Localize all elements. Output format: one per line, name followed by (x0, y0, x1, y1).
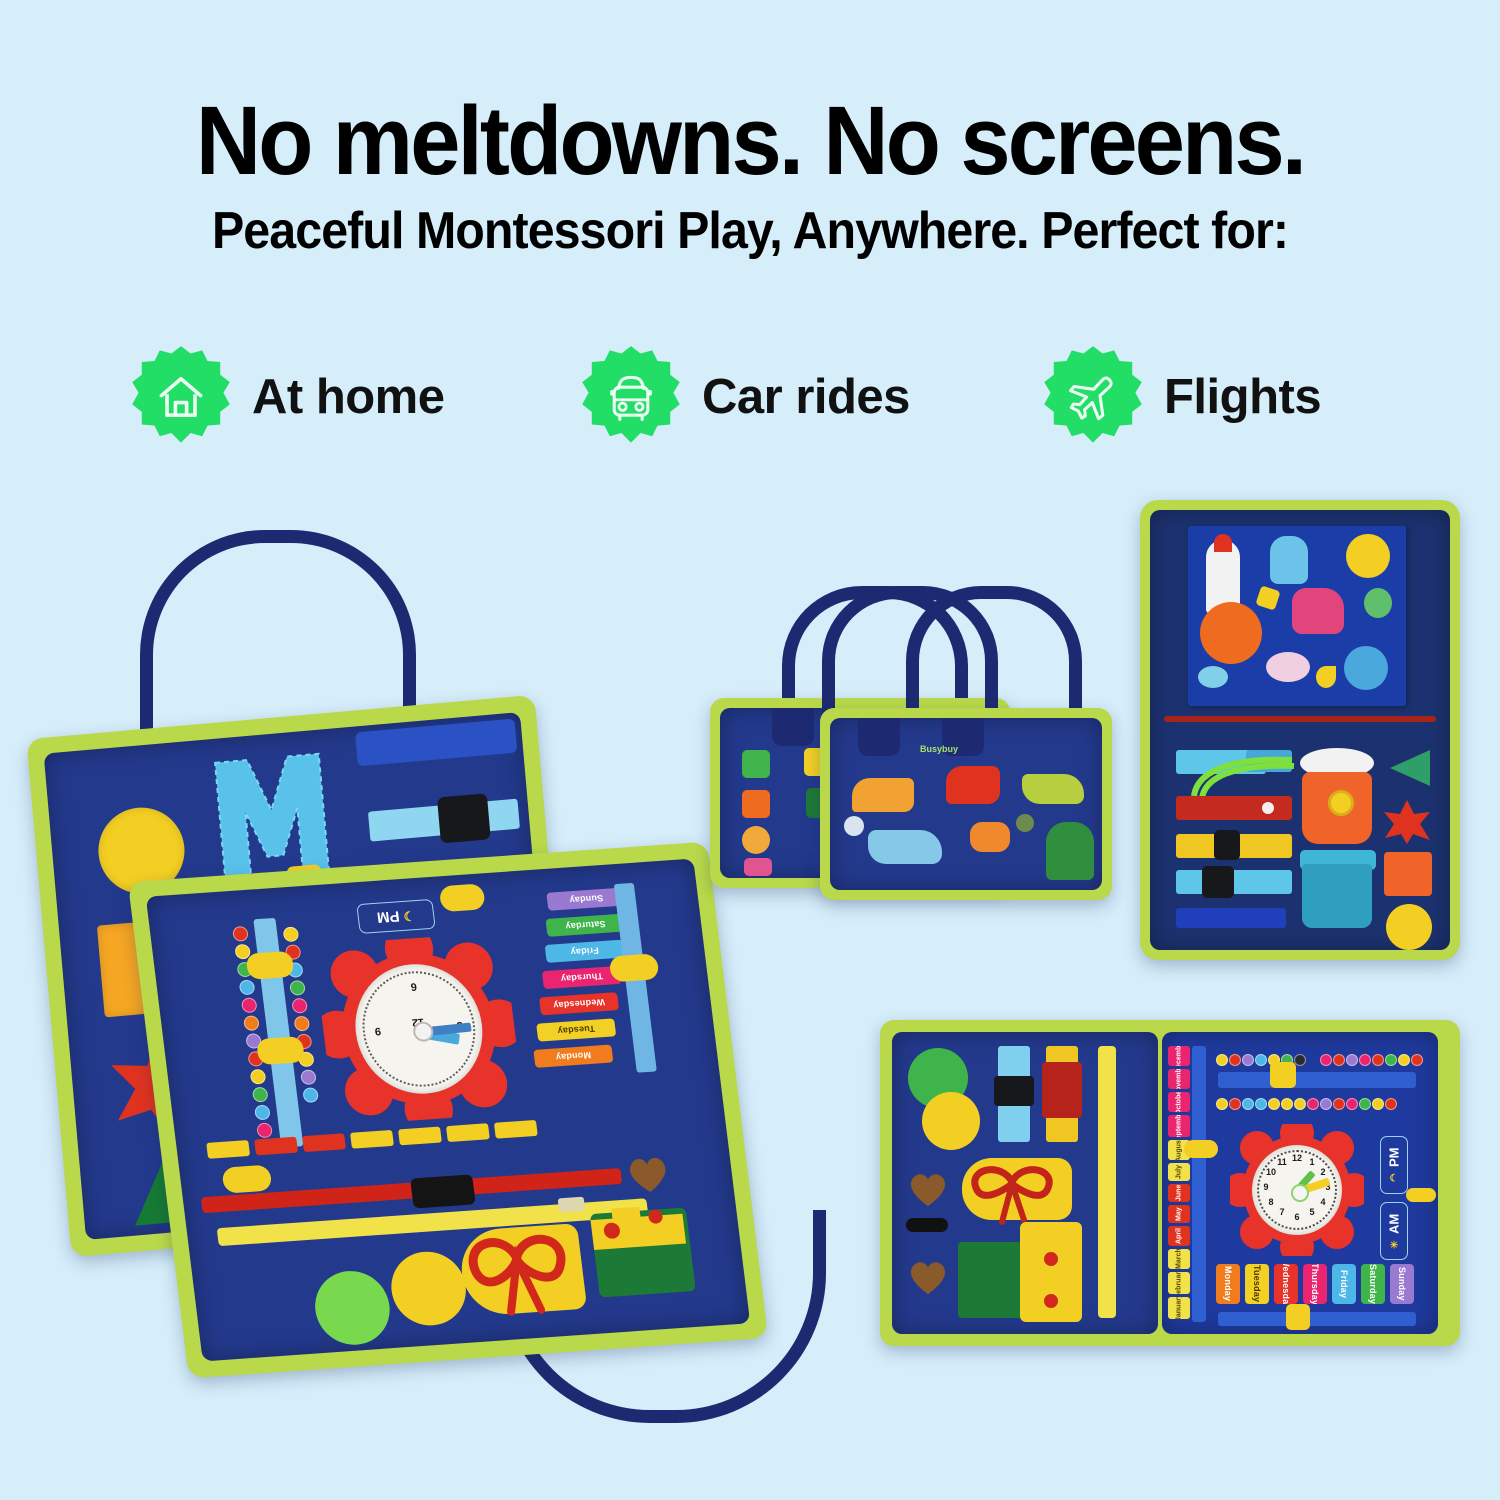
shirt-button[interactable] (1328, 790, 1354, 816)
astronaut-boy-sticker (1270, 536, 1308, 584)
yellow-puzzle-piece[interactable] (585, 1200, 691, 1259)
clock-board-left-page (892, 1032, 1158, 1334)
month-march[interactable]: March (1168, 1249, 1190, 1269)
month-june[interactable]: June (1168, 1184, 1190, 1202)
yellow-buckle-clip[interactable] (1214, 830, 1240, 860)
am-sun-icon-right: ☀ (1389, 1238, 1400, 1249)
weekday-monday[interactable]: Monday (1216, 1264, 1240, 1304)
month-february[interactable]: February (1168, 1272, 1190, 1294)
badge-disc-flights (1040, 344, 1146, 450)
weekday-tuesday[interactable]: Tuesday (1245, 1264, 1269, 1304)
weekday-friday[interactable]: Friday (1332, 1264, 1356, 1304)
pm-moon-icon-right: ☽ (1389, 1171, 1400, 1182)
space-scene (1188, 526, 1406, 706)
pm-tab-label: PM (376, 908, 401, 926)
weekday-saturday[interactable]: Saturday (1361, 1264, 1385, 1304)
toggle-button-left[interactable] (906, 1218, 948, 1232)
sticker-stegosaurus (1022, 774, 1084, 804)
blue-buckle-strap[interactable] (1176, 870, 1292, 894)
weekday-strip-wednesday[interactable]: Wednesday (539, 992, 619, 1015)
month-slider-knob[interactable] (609, 953, 660, 982)
blue-pants[interactable] (1302, 864, 1372, 928)
plane-icon (1065, 369, 1121, 425)
poster-canvas: No meltdowns. No screens. Peaceful Monte… (0, 0, 1500, 1500)
red-star-shape-right (1382, 798, 1432, 846)
shoe-lace-bow[interactable] (958, 1154, 1074, 1226)
flower-clock-right[interactable]: 12 1 2 3 4 5 6 7 8 9 10 11 (1230, 1124, 1364, 1256)
brown-heart-bottom (906, 1256, 950, 1296)
weekday-strip-saturday[interactable]: Saturday (545, 914, 625, 937)
month-strip[interactable] (350, 1130, 394, 1149)
month-strip[interactable] (398, 1127, 442, 1146)
month-strip[interactable] (446, 1123, 490, 1142)
sticker-rock (1016, 814, 1034, 832)
green-triangle-shape-right (1386, 746, 1432, 790)
clock-board-right-page: December November October September Augu… (1162, 1032, 1438, 1334)
green-lace[interactable] (1190, 752, 1296, 798)
moon-sticker (1316, 666, 1336, 688)
sun-sticker (1346, 534, 1390, 578)
month-slider-track-right[interactable] (1192, 1046, 1206, 1322)
clock-num-8: 8 (1263, 1197, 1279, 1207)
am-tab-label-right: AM (1387, 1213, 1402, 1233)
blue-velcro-strip[interactable] (355, 719, 517, 767)
board-front-page-panel: ☽ PM 12 3 (146, 859, 750, 1362)
month-july[interactable]: July (1168, 1163, 1190, 1181)
month-strip[interactable] (206, 1140, 250, 1159)
yellow-zipper-pull[interactable] (558, 1197, 586, 1213)
bead-track-1[interactable] (1218, 1072, 1416, 1088)
pm-tab-label-right: PM (1387, 1148, 1402, 1168)
clock-num-4: 4 (1315, 1197, 1331, 1207)
month-column: December November October September Augu… (1164, 1046, 1190, 1322)
weekday-wednesday[interactable]: Wednesday (1274, 1264, 1298, 1304)
earth-sticker (1344, 646, 1388, 690)
clock-num-1: 1 (1304, 1157, 1320, 1167)
orange-square-shape-right (1384, 852, 1432, 896)
use-case-badge-row: At home Car rides Flights (0, 332, 1500, 462)
brown-heart-top (906, 1168, 950, 1208)
blue-buckle-clip-left[interactable] (994, 1076, 1034, 1106)
brown-heart (623, 1151, 674, 1196)
weekday-strip-group-right: Monday Tuesday Wednesday Thursday Friday… (1216, 1264, 1422, 1306)
pm-moon-icon: ☽ (402, 907, 416, 924)
clock-num-12: 12 (1289, 1153, 1305, 1163)
pm-tab[interactable]: ☽ PM (356, 899, 436, 934)
month-strip[interactable] (254, 1137, 298, 1156)
month-january[interactable]: January (1168, 1297, 1190, 1319)
alphabet-bead-row[interactable] (1216, 1054, 1428, 1066)
clock-num-11: 11 (1274, 1157, 1290, 1167)
pm-tab-right[interactable]: ☽ PM (1380, 1136, 1408, 1194)
month-december[interactable]: December (1168, 1046, 1190, 1066)
sticker-egg (844, 816, 864, 836)
planet-mars-sticker (1200, 602, 1262, 664)
sticker-owl (742, 826, 770, 854)
clock-center-pin-right (1291, 1184, 1309, 1202)
month-april[interactable]: April (1168, 1226, 1190, 1246)
month-strip[interactable] (494, 1120, 538, 1139)
clock-num-5: 5 (1304, 1207, 1320, 1217)
yellow-zipper-left[interactable] (1098, 1046, 1116, 1318)
green-gear[interactable] (311, 1269, 394, 1348)
weekday-strip-monday[interactable]: Monday (533, 1045, 613, 1068)
sticker-unicorn (744, 858, 772, 876)
sticker-horse (742, 790, 770, 818)
red-buckle-clip-left[interactable] (1042, 1062, 1082, 1118)
sticker-letter-a (742, 750, 770, 778)
month-november[interactable]: November (1168, 1069, 1190, 1089)
clock-num-7: 7 (1274, 1207, 1290, 1217)
handle-tab (772, 708, 814, 746)
badge-label-car-rides: Car rides (702, 369, 910, 425)
month-september[interactable]: September (1168, 1115, 1190, 1137)
badge-label-flights: Flights (1164, 369, 1321, 425)
month-slider-knob-right[interactable] (1184, 1140, 1218, 1158)
badge-disc-car-rides (578, 344, 684, 450)
buckle-clip-black-1[interactable] (437, 793, 491, 843)
weekday-strip-tuesday[interactable]: Tuesday (536, 1018, 616, 1041)
clock-number-6: 6 (405, 980, 422, 993)
badge-car-rides[interactable]: Car rides (578, 332, 910, 462)
cup-dot-bottom (1044, 1294, 1058, 1308)
alien-sticker (1364, 588, 1392, 618)
yellow-gear-left[interactable] (922, 1092, 980, 1150)
product-space-board[interactable] (1140, 500, 1470, 970)
clock-num-6: 6 (1289, 1212, 1305, 1222)
am-tab-right[interactable]: ☀ AM (1380, 1202, 1408, 1260)
sticker-t-rex (852, 778, 914, 812)
home-icon (153, 369, 209, 425)
number-bead-row[interactable] (1216, 1098, 1428, 1110)
badge-disc-at-home (128, 344, 234, 450)
bead-knob-1[interactable] (1270, 1062, 1296, 1088)
weekday-sunday[interactable]: Sunday (1390, 1264, 1414, 1304)
month-strip[interactable] (302, 1133, 346, 1152)
pm-pointer[interactable] (439, 883, 486, 912)
clock-num-9: 9 (1258, 1182, 1274, 1192)
clock-dial-right: 12 1 2 3 4 5 6 7 8 9 10 11 (1252, 1145, 1342, 1235)
slider-knob-yellow-2[interactable] (256, 1036, 305, 1065)
brand-text: Busybuy (920, 744, 958, 754)
space-board-red-zipper[interactable] (1164, 716, 1436, 722)
black-toggle-button[interactable] (410, 1174, 476, 1208)
page-headline: No meltdowns. No screens. (53, 92, 1448, 189)
blue-buckle-clip[interactable] (1202, 866, 1234, 898)
rocket-nose (1214, 534, 1232, 552)
badge-flights[interactable]: Flights (1040, 332, 1321, 462)
red-snap-strap[interactable] (1176, 796, 1292, 820)
sticker-palm-tree (1046, 822, 1094, 880)
sticker-triceratops (868, 830, 942, 864)
clock-number-9: 9 (369, 1024, 386, 1037)
month-october[interactable]: October (1168, 1092, 1190, 1112)
month-may[interactable]: May (1168, 1205, 1190, 1223)
red-strap-snap[interactable] (1262, 802, 1274, 814)
page-subheadline: Peaceful Montessori Play, Anywhere. Perf… (53, 205, 1448, 257)
dino-handle-tab-left (858, 718, 900, 756)
cup-dot-top (1044, 1252, 1058, 1266)
blue-velcro-strip-bottom[interactable] (1176, 908, 1286, 928)
ampm-pointer[interactable] (1406, 1188, 1436, 1202)
green-pocket-left[interactable] (958, 1242, 1028, 1318)
weekday-track[interactable] (1218, 1312, 1416, 1326)
clock-num-2: 2 (1315, 1167, 1331, 1177)
weekday-thursday[interactable]: Thursday (1303, 1264, 1327, 1304)
product-closed-bag-dinosaur[interactable]: Busybuy (828, 580, 1118, 920)
sticker-chick (970, 822, 1010, 852)
saturn-sticker (1198, 666, 1228, 688)
ufo-sticker (1266, 652, 1310, 682)
flower-clock[interactable]: 12 3 6 9 (313, 932, 525, 1126)
sticker-dragon (946, 766, 1000, 804)
dino-bag-front: Busybuy (830, 718, 1102, 890)
astronaut-girl-sticker (1292, 588, 1344, 634)
shoe-laces[interactable] (450, 1215, 592, 1323)
space-board-panel (1150, 510, 1450, 950)
yellow-circle-shape-right (1386, 904, 1432, 950)
slider-knob-yellow-1[interactable] (245, 951, 294, 980)
badge-at-home[interactable]: At home (128, 332, 445, 462)
car-icon (603, 369, 659, 425)
star-sticker (1255, 585, 1280, 610)
badge-label-at-home: At home (252, 369, 445, 425)
month-knob-lower[interactable] (221, 1165, 272, 1194)
product-clock-board[interactable]: December November October September Augu… (880, 1020, 1470, 1350)
weekday-knob[interactable] (1286, 1304, 1310, 1330)
clock-num-10: 10 (1263, 1167, 1279, 1177)
